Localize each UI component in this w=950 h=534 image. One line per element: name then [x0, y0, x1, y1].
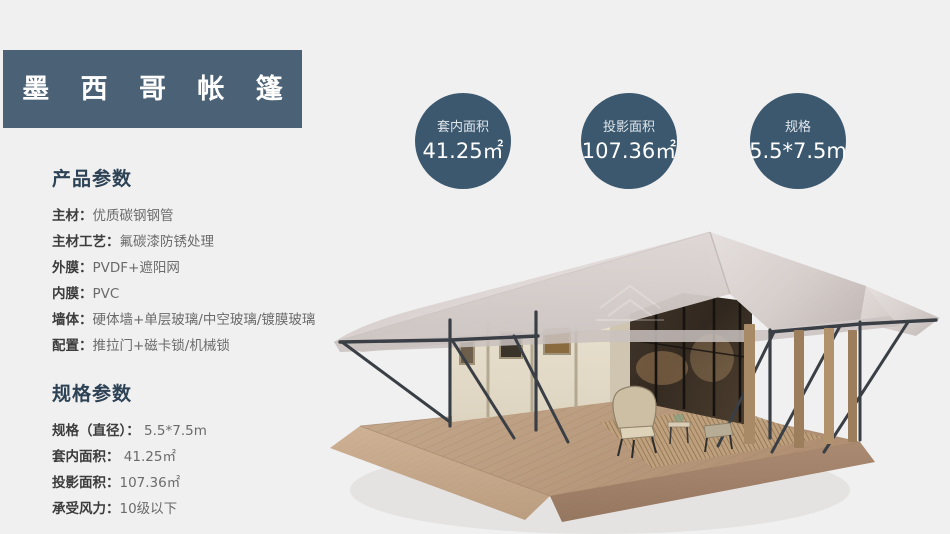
stat-badge-interior-area: 套内面积 41.25㎡	[415, 93, 511, 189]
spec-label: 主材工艺：	[52, 234, 120, 250]
badge-value: 5.5*7.5m	[749, 141, 847, 162]
spec-label: 投影面积：	[52, 475, 120, 491]
spec-label: 承受风力：	[52, 501, 120, 517]
badge-label: 投影面积	[603, 121, 655, 134]
title-banner: 墨 西 哥 帐 篷	[3, 50, 302, 128]
spec-label: 配置：	[52, 338, 93, 354]
spec-label: 内膜：	[52, 286, 93, 302]
page-root: 墨 西 哥 帐 篷 产品参数 主材：优质碳钢钢管 主材工艺：氟碳漆防锈处理 外膜…	[0, 0, 950, 534]
spec-value: 5.5*7.5m	[140, 423, 207, 439]
spec-value: 推拉门+磁卡锁/机械锁	[93, 338, 230, 354]
spec-value: 硬体墙+单层玻璃/中空玻璃/镀膜玻璃	[93, 312, 316, 328]
badge-label: 套内面积	[437, 121, 489, 134]
spec-value: 41.25㎡	[120, 449, 176, 465]
stat-badge-projected-area: 投影面积 107.36㎡	[581, 93, 677, 189]
badge-label: 规格	[785, 121, 811, 134]
spec-label: 规格（直径）：	[52, 423, 140, 439]
page-title: 墨 西 哥 帐 篷	[11, 76, 294, 103]
spec-value: PVDF+遮阳网	[93, 260, 180, 276]
spec-label: 外膜：	[52, 260, 93, 276]
stat-badge-dimensions: 规格 5.5*7.5m	[750, 93, 846, 189]
spec-value: 优质碳钢钢管	[93, 208, 174, 224]
badge-value: 107.36㎡	[582, 141, 676, 162]
spec-label: 墙体：	[52, 312, 93, 328]
spec-value: 氟碳漆防锈处理	[120, 234, 215, 250]
spec-label: 主材：	[52, 208, 93, 224]
tent-render-image	[300, 190, 950, 534]
spec-value: PVC	[93, 286, 120, 302]
product-params-heading: 产品参数	[52, 164, 352, 191]
spec-value: 10级以下	[120, 501, 178, 517]
badge-value: 41.25㎡	[422, 141, 503, 162]
spec-label: 套内面积：	[52, 449, 120, 465]
spec-value: 107.36㎡	[120, 475, 181, 491]
